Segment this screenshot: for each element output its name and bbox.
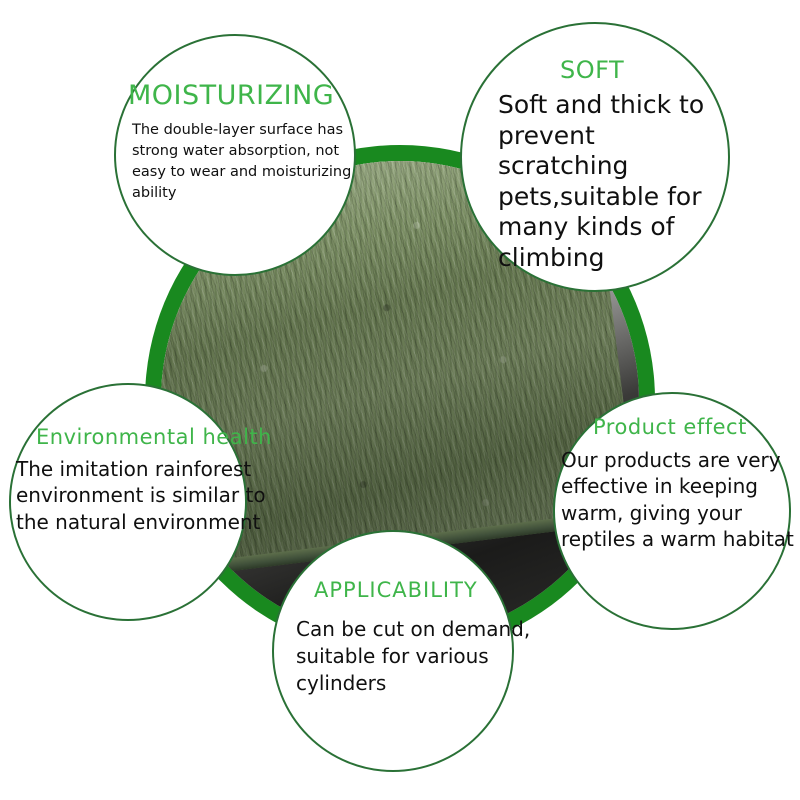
callout-bubble-environmental-health[interactable] [9,383,247,621]
callout-bubble-moisturizing[interactable] [114,34,356,276]
callout-bubble-product-effect[interactable] [553,392,791,630]
callout-bubble-applicability[interactable] [272,530,514,772]
infographic-canvas: MOISTURIZING The double-layer surface ha… [0,0,800,800]
callout-bubble-soft[interactable] [460,22,730,292]
